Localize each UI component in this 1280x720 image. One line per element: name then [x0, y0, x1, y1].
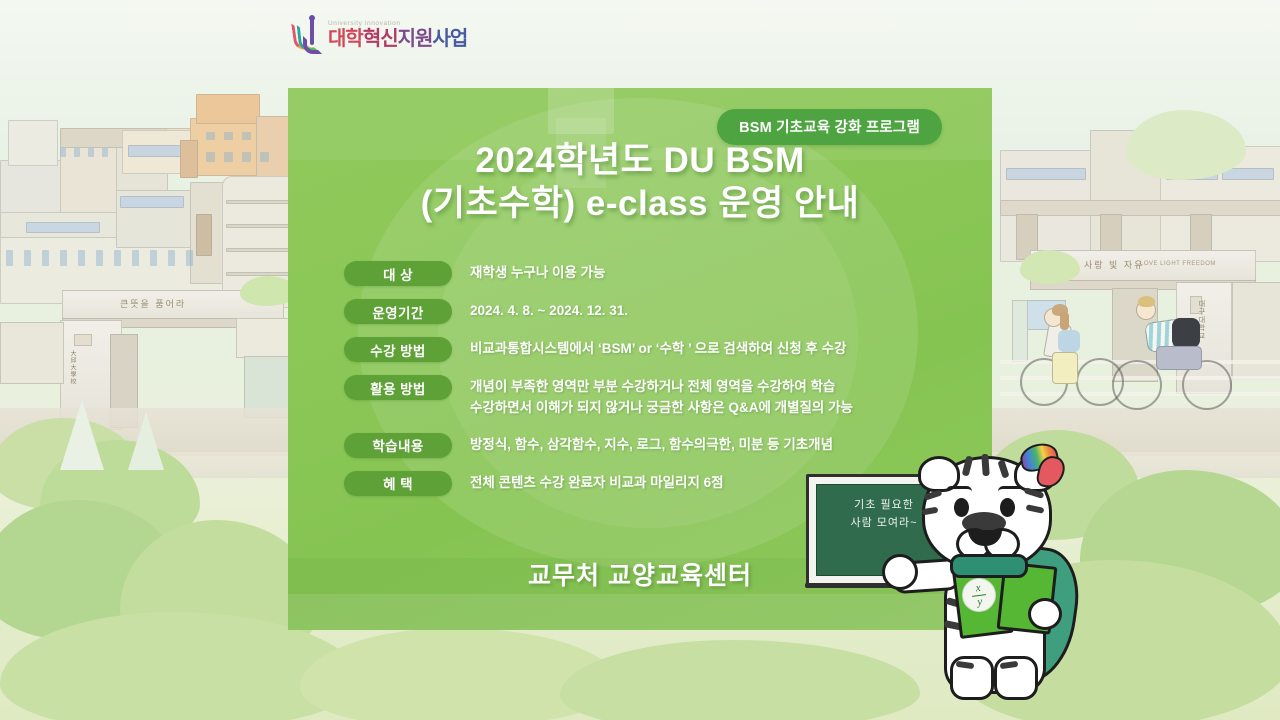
logo-kr-part-3: 지원	[398, 28, 433, 50]
info-row-value: 재학생 누구나 이용 가능	[470, 260, 605, 284]
info-row-label: 활용 방법	[344, 375, 452, 400]
info-row: 수강 방법 비교과통합시스템에서 ‘BSM’ or ‘수학 ’ 으로 검색하여 …	[344, 336, 954, 362]
info-row-value-line: 전체 콘텐츠 수강 완료자 비교과 마일리지 6점	[470, 473, 724, 494]
poster-canvas: 큰뜻을 품어라 大邱大學校 사랑 빛 자유 LOVE LIGHT FREEDOM	[0, 0, 1280, 720]
logo-korean-text: 대학혁신지원사업	[328, 29, 467, 49]
info-row-label: 학습내용	[344, 433, 452, 458]
info-row-value: 비교과통합시스템에서 ‘BSM’ or ‘수학 ’ 으로 검색하여 신청 후 수…	[470, 336, 846, 360]
left-gate-sign: 큰뜻을 품어라	[120, 297, 186, 310]
logo-kr-part-4: 사업	[432, 28, 467, 50]
info-row-label: 대 상	[344, 261, 452, 286]
info-row-value-line: 재학생 누구나 이용 가능	[470, 263, 605, 284]
book-symbol-y: y	[977, 596, 983, 608]
info-row-value-line: 방정식, 함수, 삼각함수, 지수, 로그, 함수의극한, 미분 등 기초개념	[470, 435, 833, 456]
info-row-list: 대 상 재학생 누구나 이용 가능 운영기간 2024. 4. 8. ~ 202…	[344, 260, 954, 508]
info-row-value-line: 개념이 부족한 영역만 부분 수강하거나 전체 영역을 수강하여 학습	[470, 377, 853, 398]
mascot-scarf	[950, 554, 1028, 578]
info-row: 대 상 재학생 누구나 이용 가능	[344, 260, 954, 286]
poster-title-line2: (기초수학) e-class 운영 안내	[288, 183, 992, 226]
info-row-value: 전체 콘텐츠 수강 완료자 비교과 마일리지 6점	[470, 470, 724, 494]
info-row-value-line: 비교과통합시스템에서 ‘BSM’ or ‘수학 ’ 으로 검색하여 신청 후 수…	[470, 339, 846, 360]
info-row: 활용 방법 개념이 부족한 영역만 부분 수강하거나 전체 영역을 수강하여 학…	[344, 374, 954, 419]
mascot-eye-left	[954, 498, 969, 517]
mascot-brow-left	[946, 486, 972, 497]
info-row-value: 방정식, 함수, 삼각함수, 지수, 로그, 함수의극한, 미분 등 기초개념	[470, 432, 833, 456]
info-row-label: 운영기간	[344, 299, 452, 324]
left-gate-pillar-text: 大邱大學校	[68, 350, 77, 385]
book-symbol-x: x	[975, 582, 981, 594]
mascot-paw-holding	[1028, 598, 1062, 630]
info-row-value-line: 2024. 4. 8. ~ 2024. 12. 31.	[470, 301, 628, 322]
logo-english-text: University innovation	[328, 21, 467, 28]
mascot-brow-right	[998, 486, 1024, 497]
info-row-label: 수강 방법	[344, 337, 452, 362]
logo-kr-part-2: 혁신	[363, 28, 398, 50]
university-innovation-logo: University innovation 대학혁신지원사업	[293, 16, 467, 50]
info-row: 운영기간 2024. 4. 8. ~ 2024. 12. 31.	[344, 298, 954, 324]
mascot-eye-right	[1000, 498, 1015, 517]
uj-logo-mark-icon	[293, 16, 323, 50]
info-row-value: 개념이 부족한 영역만 부분 수강하거나 전체 영역을 수강하여 학습 수강하면…	[470, 374, 853, 419]
poster-title: 2024학년도 DU BSM (기초수학) e-class 운영 안내	[288, 140, 992, 225]
info-row: 학습내용 방정식, 함수, 삼각함수, 지수, 로그, 함수의극한, 미분 등 …	[344, 432, 954, 458]
poster-title-line1: 2024학년도 DU BSM	[475, 141, 804, 180]
info-row-label: 혜 택	[344, 471, 452, 496]
white-tiger-mascot: x y	[900, 450, 1130, 702]
mascot-paw-raised	[882, 554, 918, 590]
right-gate-sign-en: LOVE LIGHT FREEDOM	[1140, 261, 1216, 267]
right-gate-sign-kr: 사랑 빛 자유	[1084, 258, 1144, 271]
info-row-value: 2024. 4. 8. ~ 2024. 12. 31.	[470, 298, 628, 322]
info-row-value-line: 수강하면서 이해가 되지 않거나 궁금한 사항은 Q&A에 개별질의 가능	[470, 398, 853, 419]
mascot-stripe	[981, 454, 990, 476]
logo-kr-part-1: 대학	[328, 28, 363, 50]
